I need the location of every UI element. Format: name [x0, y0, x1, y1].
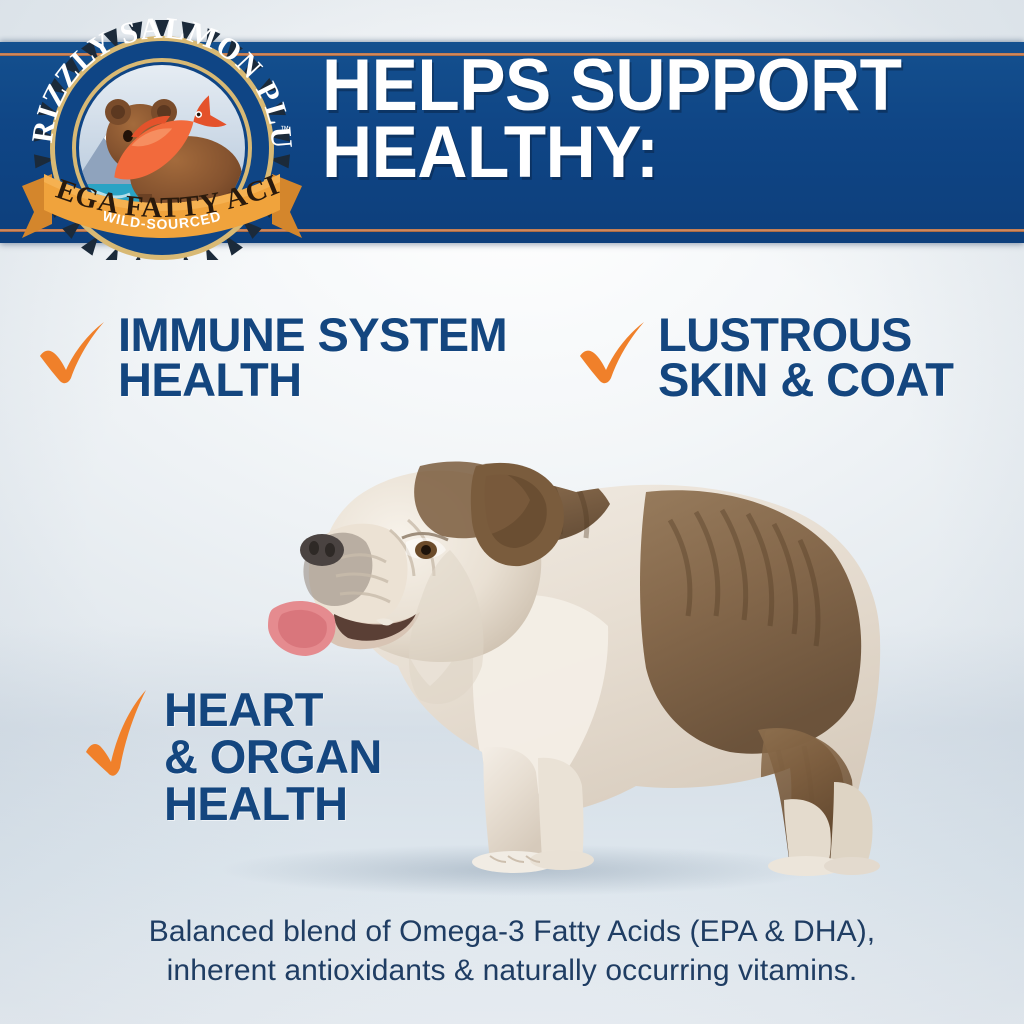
footer-caption: Balanced blend of Omega-3 Fatty Acids (E… — [0, 912, 1024, 990]
headline-line-2: HEALTHY: — [322, 119, 959, 186]
benefit-immune-system-health: IMMUNE SYSTEM HEALTH — [34, 312, 507, 402]
check-icon — [84, 686, 158, 787]
caption-line-2: inherent antioxidants & naturally occurr… — [0, 951, 1024, 990]
check-icon — [574, 312, 652, 395]
bulldog-photo — [90, 400, 970, 910]
caption-line-1: Balanced blend of Omega-3 Fatty Acids (E… — [0, 912, 1024, 951]
brand-logo: GRIZZLY SALMON PLUS ™ OMEGA FATTY ACIDS … — [18, 8, 306, 260]
page-title: HELPS SUPPORT HEALTHY: — [322, 52, 959, 186]
check-icon — [34, 312, 112, 395]
benefit-skin-line-1: LUSTROUS — [658, 312, 953, 357]
benefit-heart-line-1: HEART — [164, 686, 382, 733]
benefit-heart-line-2: & ORGAN — [164, 733, 382, 780]
benefit-heart-and-organ-health: HEART & ORGAN HEALTH — [86, 686, 382, 827]
benefit-skin-label: LUSTROUS SKIN & COAT — [658, 312, 953, 402]
benefit-heart-label: HEART & ORGAN HEALTH — [164, 686, 382, 827]
benefit-lustrous-skin-and-coat: LUSTROUS SKIN & COAT — [574, 312, 953, 402]
logo-trademark: ™ — [280, 124, 289, 134]
benefit-skin-line-2: SKIN & COAT — [658, 357, 953, 402]
benefit-immune-line-1: IMMUNE SYSTEM — [118, 312, 507, 357]
benefit-heart-line-3: HEALTH — [164, 780, 382, 827]
benefit-immune-line-2: HEALTH — [118, 357, 507, 402]
product-benefits-graphic: HELPS SUPPORT HEALTHY: — [0, 0, 1024, 1024]
benefit-immune-label: IMMUNE SYSTEM HEALTH — [118, 312, 507, 402]
